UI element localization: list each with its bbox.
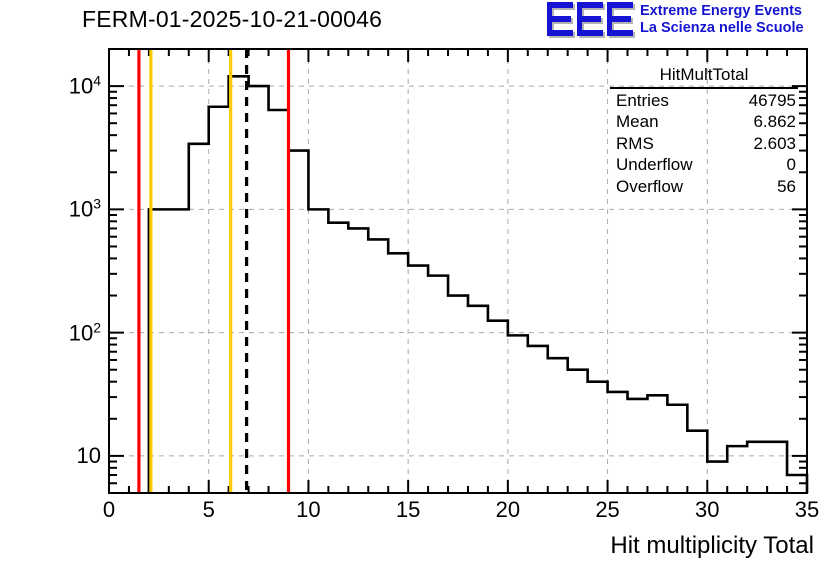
y-tick-label: 102	[69, 319, 101, 346]
x-tick-label: 30	[695, 497, 719, 523]
stats-row: Entries46795	[610, 90, 798, 112]
stats-row-key: Mean	[616, 111, 659, 133]
stats-row-value: 0	[787, 154, 796, 176]
stats-row: RMS2.603	[610, 133, 798, 155]
stats-row-value: 2.603	[753, 133, 796, 155]
stats-row: Mean6.862	[610, 111, 798, 133]
x-tick-label: 0	[103, 497, 115, 523]
y-tick-label: 104	[69, 72, 101, 99]
y-tick-label: 103	[69, 196, 101, 223]
x-tick-label: 20	[496, 497, 520, 523]
stats-row-key: Underflow	[616, 154, 693, 176]
x-tick-label: 10	[296, 497, 320, 523]
x-tick-label: 5	[203, 497, 215, 523]
stats-row-value: 46795	[749, 90, 796, 112]
statistics-box: HitMultTotal Entries46795Mean6.862RMS2.6…	[610, 64, 798, 197]
x-axis-title: Hit multiplicity Total	[610, 532, 814, 560]
x-tick-label: 15	[396, 497, 420, 523]
y-tick-label: 10	[77, 443, 101, 469]
stats-row-key: RMS	[616, 133, 654, 155]
stats-row-key: Overflow	[616, 176, 683, 198]
stats-row: Overflow56	[610, 176, 798, 198]
x-tick-label: 25	[595, 497, 619, 523]
y-axis-labels: 10102103104	[0, 0, 101, 572]
stats-title: HitMultTotal	[610, 64, 798, 89]
histogram-page: FERM-01-2025-10-21-00046 Extreme Energy …	[0, 0, 836, 572]
stats-row-value: 56	[777, 176, 796, 198]
stats-row: Underflow0	[610, 154, 798, 176]
stats-row-key: Entries	[616, 90, 669, 112]
stats-row-value: 6.862	[753, 111, 796, 133]
x-tick-label: 35	[795, 497, 819, 523]
stats-rows: Entries46795Mean6.862RMS2.603Underflow0O…	[610, 90, 798, 198]
